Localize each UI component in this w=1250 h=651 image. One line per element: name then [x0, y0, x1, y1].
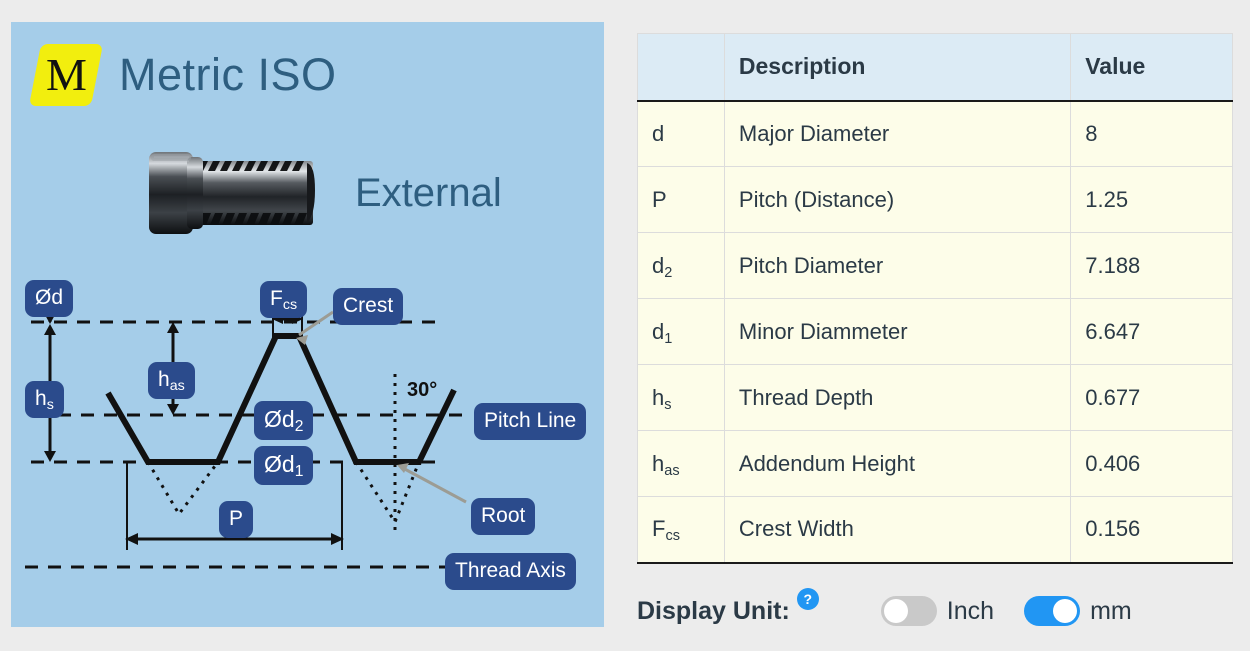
thread-diagram-panel: M Metric ISO: [11, 22, 604, 627]
cell-value: 0.406: [1071, 431, 1233, 497]
callout-pitch-line: Pitch Line: [474, 403, 586, 440]
thread-dimensions-table: Description Value d Major Diameter 8 P P…: [637, 33, 1233, 564]
table-row: P Pitch (Distance) 1.25: [638, 167, 1233, 233]
table-row: Fcs Crest Width 0.156: [638, 497, 1233, 563]
cell-value: 8: [1071, 101, 1233, 167]
mm-label: mm: [1090, 597, 1132, 626]
cell-symbol: hs: [638, 365, 725, 431]
cell-description: Crest Width: [724, 497, 1070, 563]
cell-symbol: d2: [638, 233, 725, 299]
thread-profile-drawing: [11, 22, 604, 627]
mm-toggle[interactable]: [1024, 596, 1080, 626]
inch-toggle-wrap[interactable]: Inch: [881, 596, 994, 626]
display-unit-label: Display Unit:: [637, 597, 790, 626]
cell-symbol: Fcs: [638, 497, 725, 563]
cell-symbol: d1: [638, 299, 725, 365]
inch-toggle-knob: [884, 599, 908, 623]
table-header-row: Description Value: [638, 34, 1233, 101]
cell-symbol: d: [638, 101, 725, 167]
callout-pitch-diameter: Ød2: [254, 401, 313, 440]
callout-flank-angle: 30°: [407, 379, 437, 402]
mm-toggle-wrap[interactable]: mm: [1024, 596, 1132, 626]
cell-symbol: P: [638, 167, 725, 233]
table-row: hs Thread Depth 0.677: [638, 365, 1233, 431]
cell-value: 6.647: [1071, 299, 1233, 365]
inch-label: Inch: [947, 597, 994, 626]
table-row: d1 Minor Diammeter 6.647: [638, 299, 1233, 365]
callout-crest-width: Fcs: [260, 281, 307, 318]
cell-value: 7.188: [1071, 233, 1233, 299]
callout-root: Root: [471, 498, 535, 535]
callout-thread-depth: hs: [25, 381, 64, 418]
callout-pitch: P: [219, 501, 253, 538]
column-header-description: Description: [724, 34, 1070, 101]
cell-value: 0.156: [1071, 497, 1233, 563]
callout-major-diameter: Ød: [25, 280, 73, 317]
cell-symbol: has: [638, 431, 725, 497]
table-row: has Addendum Height 0.406: [638, 431, 1233, 497]
cell-description: Addendum Height: [724, 431, 1070, 497]
cell-description: Major Diameter: [724, 101, 1070, 167]
table-row: d2 Pitch Diameter 7.188: [638, 233, 1233, 299]
display-unit-row: Display Unit: ? Inch mm: [637, 586, 1132, 636]
callout-addendum-height: has: [148, 362, 195, 399]
column-header-value: Value: [1071, 34, 1233, 101]
cell-description: Thread Depth: [724, 365, 1070, 431]
cell-value: 0.677: [1071, 365, 1233, 431]
cell-description: Pitch Diameter: [724, 233, 1070, 299]
callout-crest: Crest: [333, 288, 403, 325]
help-icon[interactable]: ?: [797, 588, 819, 610]
cell-description: Pitch (Distance): [724, 167, 1070, 233]
inch-toggle[interactable]: [881, 596, 937, 626]
callout-thread-axis: Thread Axis: [445, 553, 576, 590]
cell-description: Minor Diammeter: [724, 299, 1070, 365]
mm-toggle-knob: [1053, 599, 1077, 623]
cell-value: 1.25: [1071, 167, 1233, 233]
table-row: d Major Diameter 8: [638, 101, 1233, 167]
callout-minor-diameter: Ød1: [254, 446, 313, 485]
column-header-symbol: [638, 34, 725, 101]
